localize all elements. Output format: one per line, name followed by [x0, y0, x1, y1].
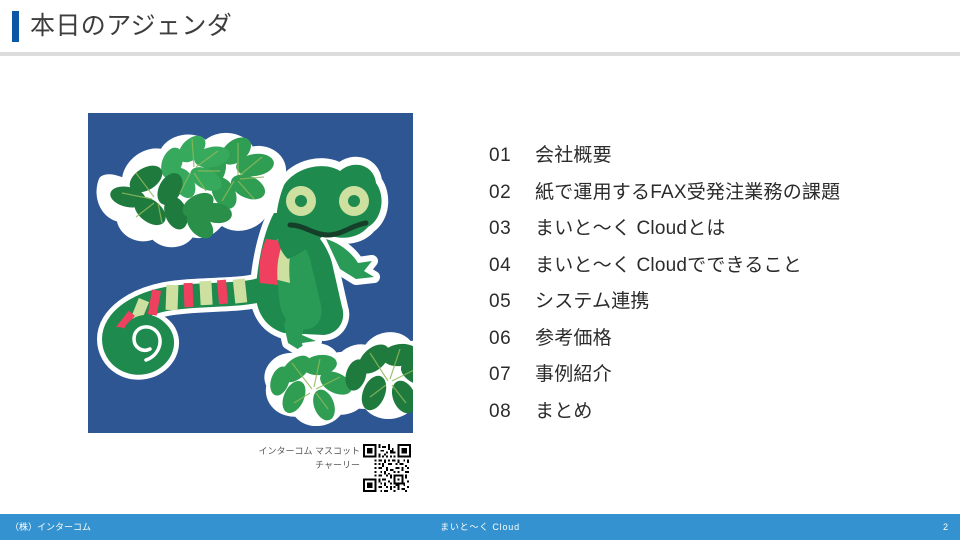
mascot-caption-line1: インターコム マスコット: [225, 444, 360, 458]
footer-page-number: 2: [943, 521, 948, 533]
agenda-item[interactable]: 04 まいと〜く Cloudでできること: [489, 250, 909, 287]
agenda-item[interactable]: 06 参考価格: [489, 323, 909, 360]
agenda-item[interactable]: 03 まいと〜く Cloudとは: [489, 213, 909, 250]
header-divider: [0, 52, 960, 56]
agenda-item-label: 会社概要: [535, 140, 612, 167]
agenda-item-number: 04: [489, 255, 535, 277]
agenda-item-number: 07: [489, 364, 535, 386]
agenda-item-label: まとめ: [535, 396, 593, 423]
agenda-item-label: システム連携: [535, 286, 650, 313]
agenda-item[interactable]: 05 システム連携: [489, 286, 909, 323]
slide-footer: （株）インターコム まいと〜く Cloud 2: [0, 514, 960, 540]
agenda-item-number: 02: [489, 182, 535, 204]
agenda-list: 01 会社概要 02 紙で運用するFAX受発注業務の課題 03 まいと〜く Cl…: [489, 140, 909, 432]
agenda-item-label: 事例紹介: [535, 359, 612, 386]
agenda-item-label: 紙で運用するFAX受発注業務の課題: [535, 177, 840, 204]
agenda-item-number: 05: [489, 291, 535, 313]
chameleon-mascot-icon: [88, 113, 413, 433]
agenda-item[interactable]: 07 事例紹介: [489, 359, 909, 396]
agenda-item-number: 08: [489, 401, 535, 423]
agenda-item-number: 06: [489, 328, 535, 350]
agenda-item-number: 01: [489, 145, 535, 167]
agenda-item-label: まいと〜く Cloudでできること: [535, 250, 802, 277]
qr-code-icon[interactable]: [363, 444, 411, 492]
slide: 本日のアジェンダ: [0, 0, 960, 540]
agenda-item-number: 03: [489, 218, 535, 240]
agenda-item-label: 参考価格: [535, 323, 612, 350]
mascot-panel: [88, 113, 413, 433]
agenda-item[interactable]: 01 会社概要: [489, 140, 909, 177]
page-title: 本日のアジェンダ: [30, 8, 232, 44]
agenda-item[interactable]: 02 紙で運用するFAX受発注業務の課題: [489, 177, 909, 214]
slide-header: 本日のアジェンダ: [0, 0, 960, 56]
mascot-caption: インターコム マスコット チャーリー: [225, 444, 360, 472]
mascot-caption-line2: チャーリー: [225, 458, 360, 472]
agenda-item-label: まいと〜く Cloudとは: [535, 213, 726, 240]
title-accent-bar: [12, 11, 19, 42]
agenda-item[interactable]: 08 まとめ: [489, 396, 909, 433]
footer-product-name: まいと〜く Cloud: [0, 521, 960, 533]
